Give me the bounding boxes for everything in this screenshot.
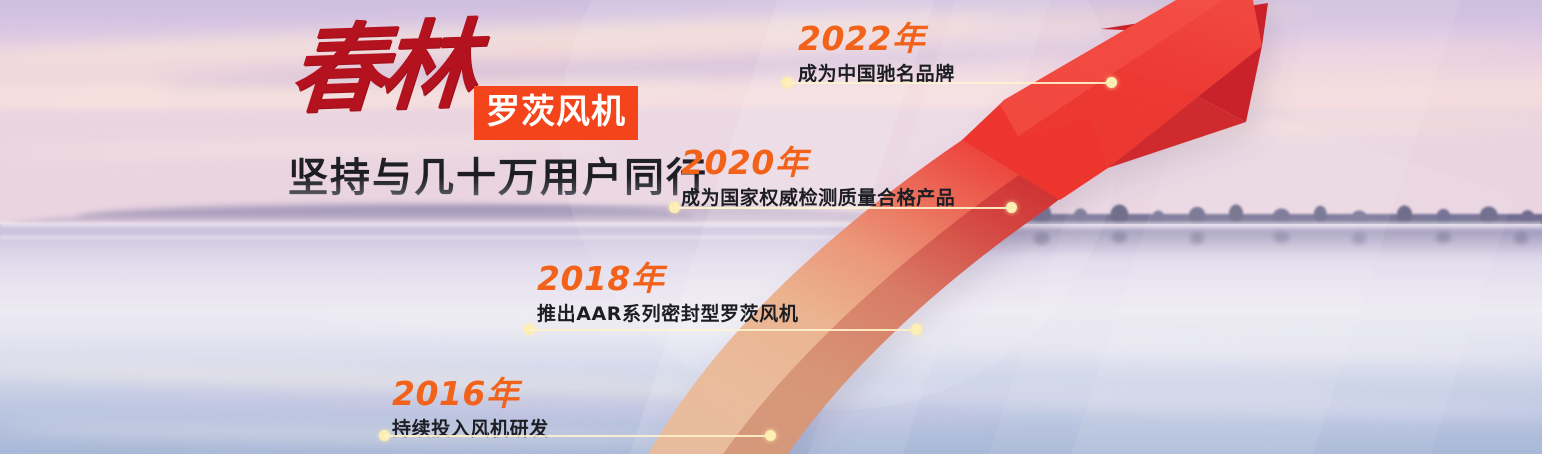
milestone-year-label: 2016年 [392, 377, 549, 410]
connector-dot-right [765, 430, 776, 441]
connector-line [787, 82, 1112, 84]
milestone-year-label: 2020年 [681, 146, 955, 179]
growth-arrow-svg [0, 0, 1542, 454]
connector-line [674, 207, 1012, 209]
connector-dot-right [1106, 77, 1117, 88]
milestone-2022: 2022年成为中国驰名品牌 [798, 22, 955, 84]
connector-line [384, 435, 771, 437]
milestone-description: 推出AAR系列密封型罗茨风机 [537, 305, 798, 324]
milestone-connector-line [782, 76, 1117, 90]
product-name-badge: 罗茨风机 [474, 86, 638, 140]
connector-line [529, 329, 917, 331]
milestone-connector-line [379, 429, 776, 443]
milestone-year-label: 2018年 [537, 262, 798, 295]
milestone-2020: 2020年成为国家权威检测质量合格产品 [681, 146, 955, 208]
milestone-connector-line [669, 201, 1017, 215]
brand-calligraphy: 春林 [286, 17, 473, 119]
connector-dot-right [911, 324, 922, 335]
milestone-year-label: 2022年 [798, 22, 955, 55]
growth-arrow-graphic [0, 0, 1542, 454]
milestone-connector-line [524, 323, 922, 337]
connector-dot-right [1006, 202, 1017, 213]
milestone-2018: 2018年推出AAR系列密封型罗茨风机 [537, 262, 798, 324]
company-milestone-banner: 春林 罗茨风机 坚持与几十万用户同行 2022年成为中国驰名品牌2020年成为国… [0, 0, 1542, 454]
brand-tagline: 坚持与几十万用户同行 [288, 156, 708, 200]
